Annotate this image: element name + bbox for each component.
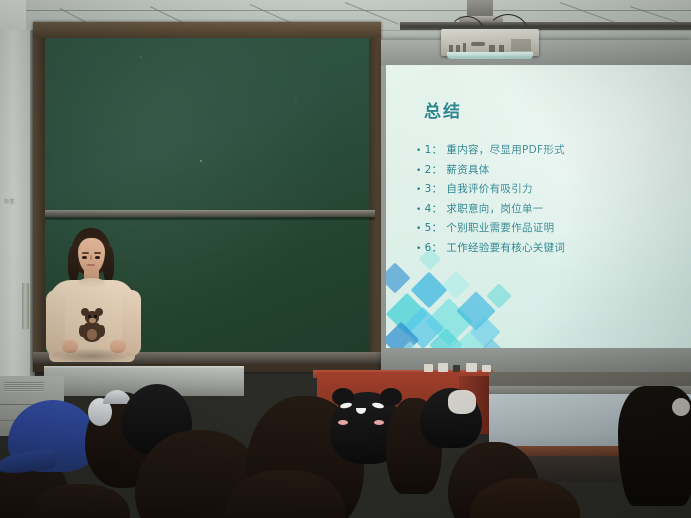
presentation-slide: 总结 •1：重内容，尽显用PDF形式•2：薪资具体•3：自我评价有吸引力•4：求…: [386, 65, 691, 348]
bullet-text: 薪资具体: [446, 165, 489, 176]
slide-title: 总结: [424, 97, 462, 122]
left-wall-panel: [0, 30, 34, 390]
slide-bullet-5: •5：个别职业需要作品证明: [416, 223, 676, 234]
bullet-marker: •: [416, 225, 422, 234]
bullet-text: 重内容，尽显用PDF形式: [446, 145, 565, 156]
presenter-mouth: [87, 264, 95, 266]
bullet-number: 2：: [425, 165, 443, 176]
bullet-number: 3：: [425, 184, 443, 195]
blackboard-center-rail: [45, 210, 375, 217]
bullet-marker: •: [416, 167, 422, 176]
deco-square-3: [386, 262, 411, 293]
projector-lens: [447, 52, 533, 59]
slide-bullet-2: •2：薪资具体: [416, 165, 676, 176]
bullet-text: 求职意向，岗位单一: [446, 204, 543, 215]
cabinet-vent: [4, 382, 44, 392]
wall-panel-label: 标签: [4, 198, 30, 208]
blackboard-frame-top: [33, 22, 381, 38]
bullet-number: 4：: [425, 204, 443, 215]
bullet-number: 5：: [425, 223, 443, 234]
bullet-text: 自我评价有吸引力: [446, 184, 532, 195]
bullet-marker: •: [416, 245, 422, 254]
slide-bullet-1: •1：重内容，尽显用PDF形式: [416, 145, 676, 156]
deco-square-6: [442, 271, 470, 299]
bullet-text: 工作经验要有核心关键词: [446, 243, 565, 254]
presenter-collar: [78, 278, 105, 287]
bullet-marker: •: [416, 147, 422, 156]
door-hinge: [22, 283, 29, 329]
bullet-number: 6：: [425, 243, 443, 254]
bullet-text: 个别职业需要作品证明: [446, 223, 554, 234]
podium-items: [424, 362, 494, 372]
slide-bullet-4: •4：求职意向，岗位单一: [416, 204, 676, 215]
classroom-scene: 标签 总结 •1：重内容，尽显用PDF形式•2：薪资具体•3：自我评价有吸引力•…: [0, 0, 691, 518]
hat-white-patch: [448, 390, 476, 414]
jacket-logo: [672, 398, 690, 416]
sweater-teddy-bear-graphic: [79, 308, 105, 344]
presenter-shadow: [46, 348, 138, 364]
bullet-number: 1：: [425, 145, 443, 156]
cat-hat-blush-right: [374, 420, 384, 425]
presenter-nose: [90, 255, 92, 260]
slide-decoration-squares: [386, 247, 532, 348]
slide-bullet-list: •1：重内容，尽显用PDF形式•2：薪资具体•3：自我评价有吸引力•4：求职意向…: [416, 145, 676, 262]
bullet-marker: •: [416, 186, 422, 195]
blackboard-right-strip: [369, 38, 381, 360]
blackboard-rail-shadow: [45, 217, 375, 220]
slide-bullet-3: •3：自我评价有吸引力: [416, 184, 676, 195]
bullet-marker: •: [416, 206, 422, 215]
presenter: [40, 228, 150, 373]
cat-hat-blush-left: [338, 420, 348, 425]
slide-bullet-6: •6：工作经验要有核心关键词: [416, 243, 676, 254]
